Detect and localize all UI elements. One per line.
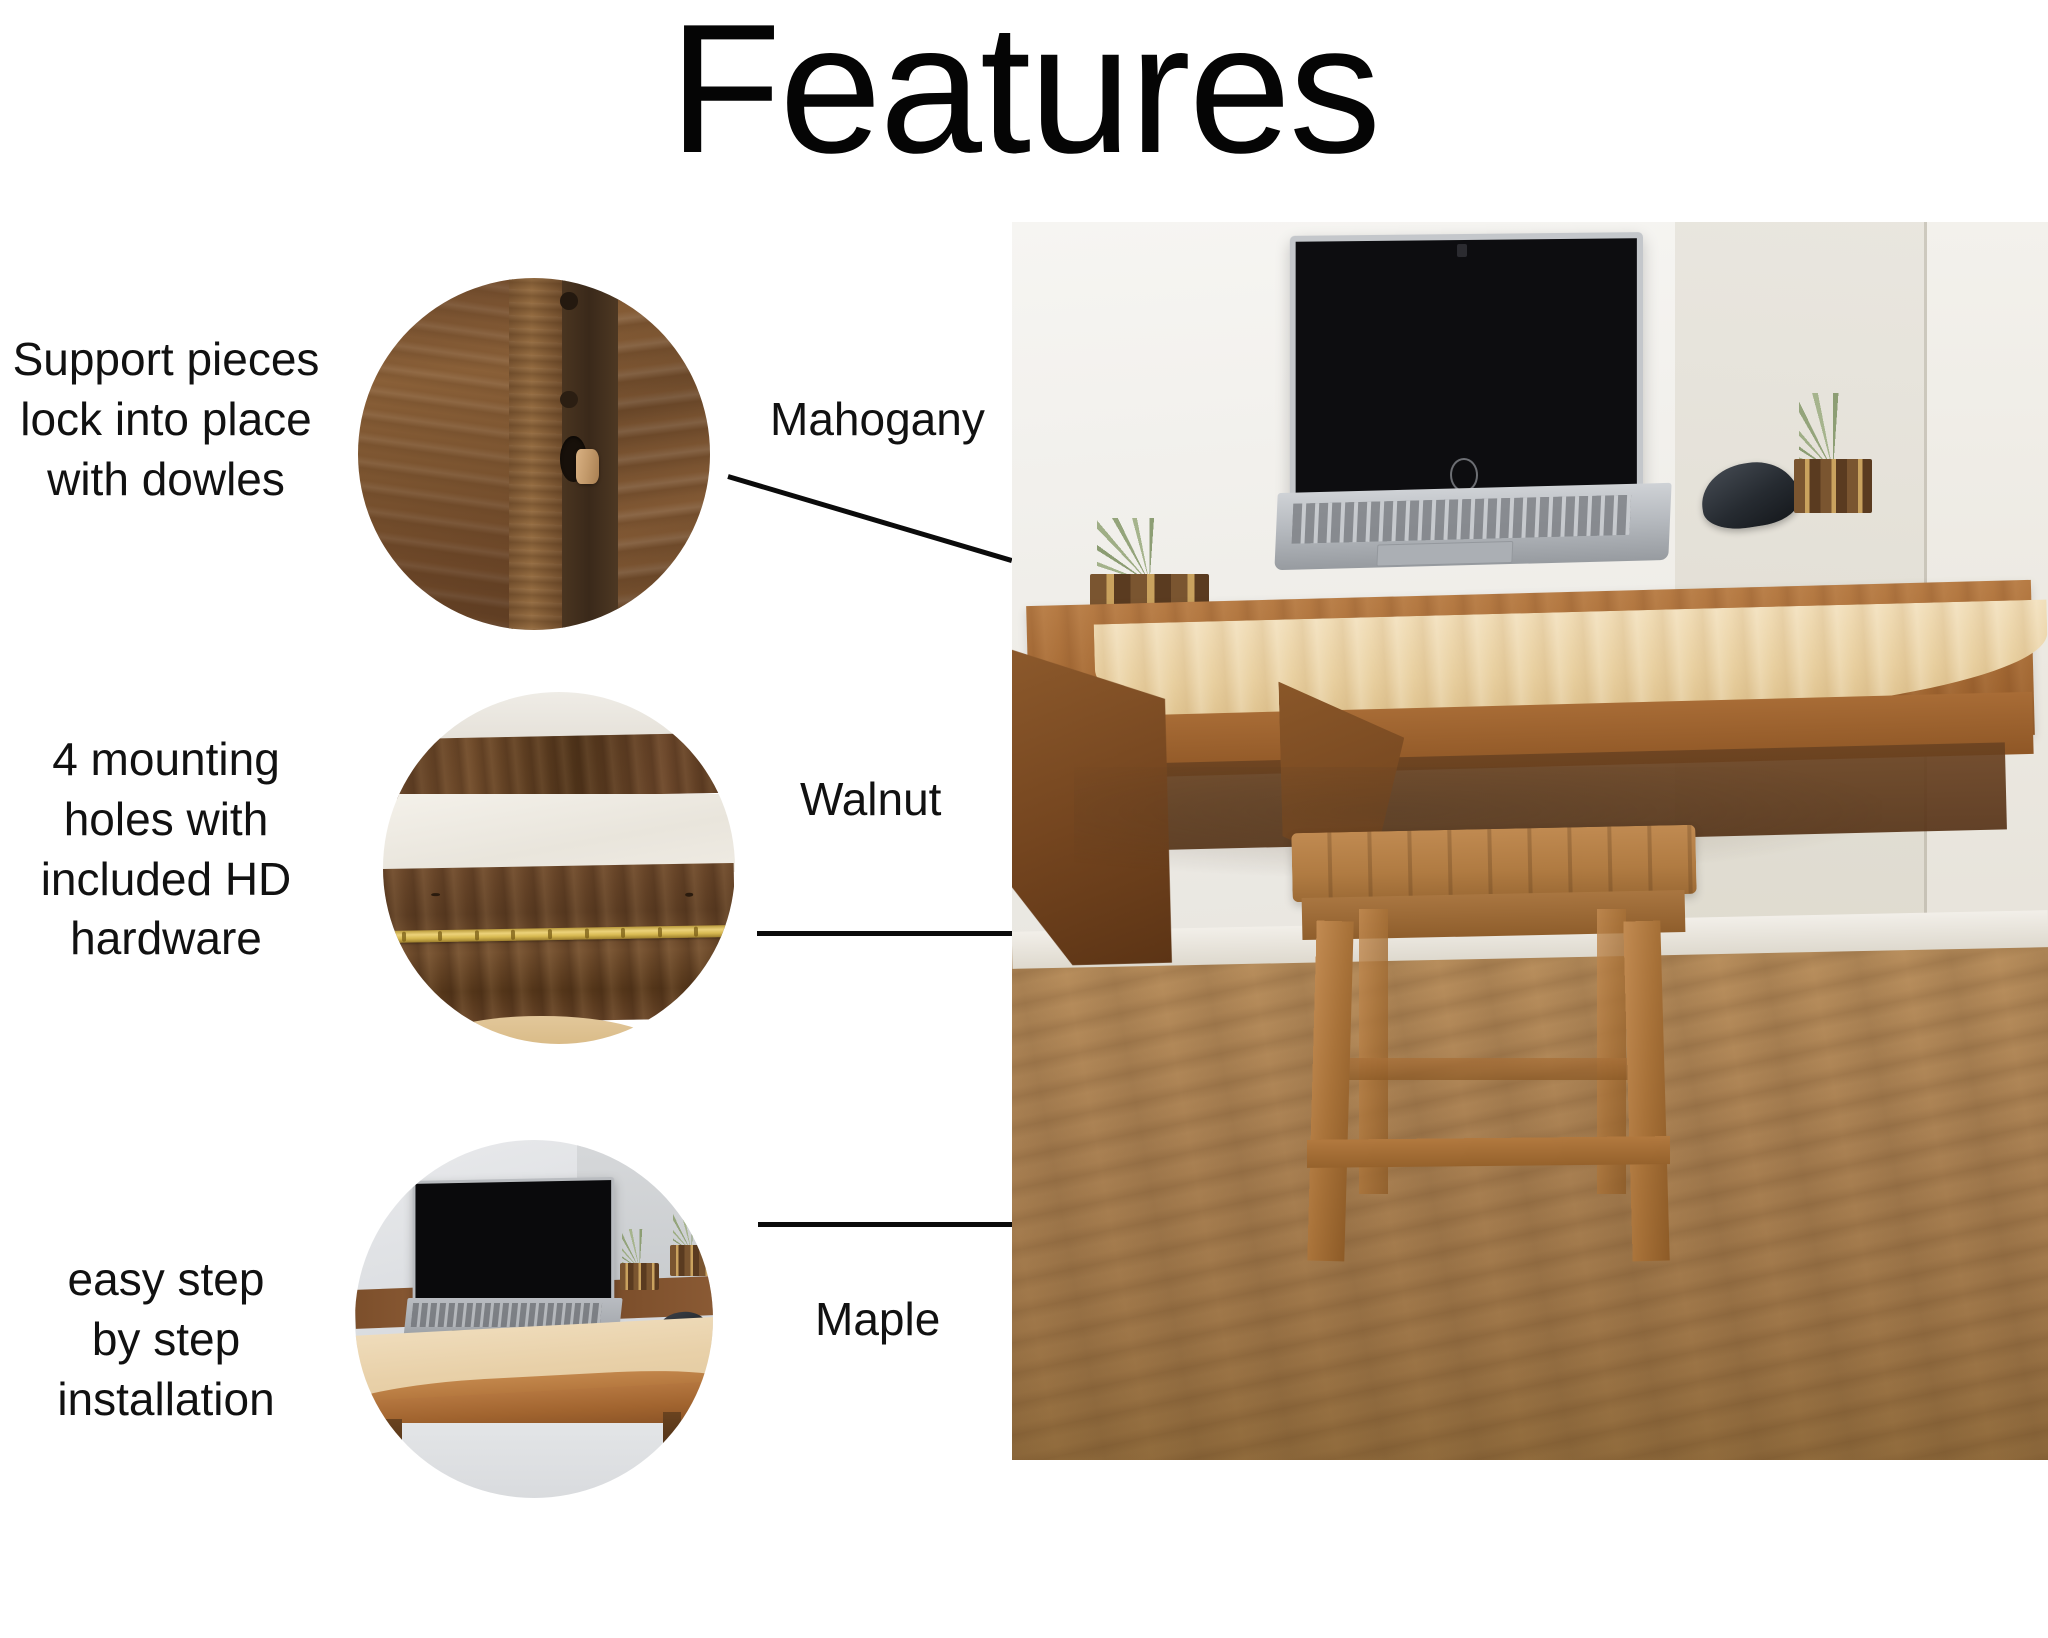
laptop-keyboard-base [1275,483,1672,570]
caption-line: easy step [0,1250,336,1310]
dowel-pin [576,449,599,484]
wood-label-maple: Maple [815,1292,940,1346]
main-product-photo [1012,222,2048,1460]
air-plant-large [670,1212,713,1276]
dowel-hole-middle [560,391,578,409]
stool-stretcher-front [1307,1136,1670,1168]
caption-line: holes with [0,790,336,850]
laptop-trackpad [1377,541,1514,567]
wood-label-walnut: Walnut [800,772,941,826]
walnut-grain-mid [509,278,565,630]
laptop-webcam [1457,244,1467,257]
connector-line-maple [758,1222,1016,1227]
feature-photo-support-dowels [358,278,710,630]
wall-band-lower [383,794,735,871]
walnut-board-lower [383,863,735,1024]
mounting-hole [407,758,415,760]
feature-photo-installation [355,1140,713,1498]
infographic-canvas: Features Support pieces lock into place … [0,0,2048,1638]
caption-line: included HD [0,850,336,910]
feature-caption-support-dowels: Support pieces lock into place with dowl… [0,330,336,509]
feature-caption-mounting-holes: 4 mounting holes with included HD hardwa… [0,730,336,969]
dowel-hole-upper [560,292,578,310]
walnut-grain-right [618,278,710,630]
wood-planter [620,1263,659,1290]
page-title: Features [0,0,2048,185]
caption-line: Support pieces [0,330,336,390]
wall-band-upper [383,692,735,738]
dowel-closeup-image [358,278,710,630]
caption-line: 4 mounting [0,730,336,790]
connector-line-walnut [757,931,1015,936]
mounting-hole [696,756,704,758]
feature-photo-mounting-holes [383,692,735,1044]
wall-below-desk [355,1423,713,1498]
caption-line: installation [0,1370,336,1430]
caption-line: hardware [0,909,336,969]
walnut-board-upper [383,733,735,800]
connector-line-mahogany [727,474,1012,563]
caption-line: by step [0,1310,336,1370]
support-bracket-right [663,1412,681,1448]
support-bracket-left [384,1419,402,1455]
feature-caption-installation: easy step by step installation [0,1250,336,1429]
mounting-hardware-image [383,692,735,1044]
wood-planter [670,1245,713,1276]
air-plant-small [620,1233,659,1290]
laptop-keys [411,1303,603,1327]
installed-desk-image [355,1140,713,1498]
wood-label-mahogany: Mahogany [770,392,985,446]
air-plant-right [1794,402,1872,513]
wood-floor [1012,940,2048,1460]
mounting-hole [685,893,694,897]
laptop-keys [1291,495,1631,544]
mounting-hole [431,893,440,897]
caption-line: lock into place [0,390,336,450]
laptop-screen [1289,232,1642,514]
walnut-grain-left [358,278,513,630]
wood-planter [1794,459,1872,512]
stool-stretcher-back [1318,1058,1660,1080]
caption-line: with dowles [0,450,336,510]
